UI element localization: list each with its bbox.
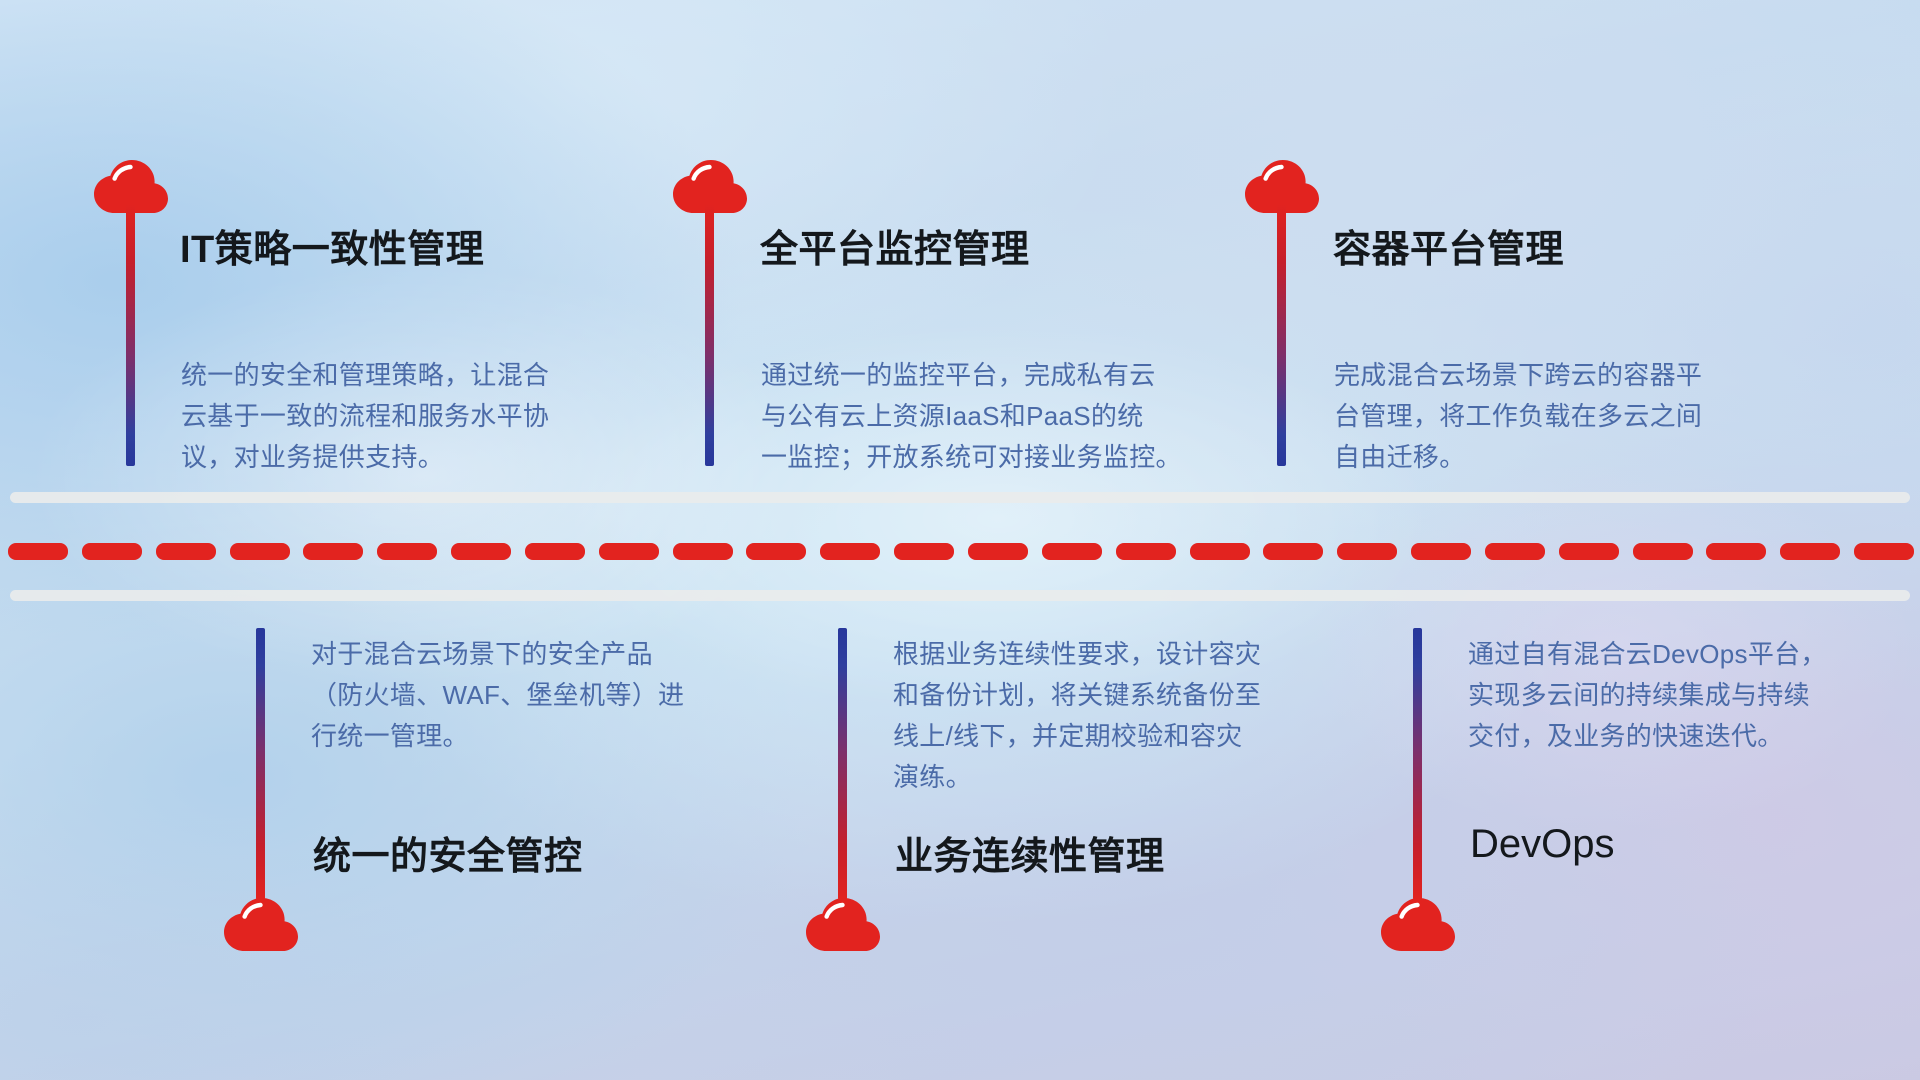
marker-description: 根据业务连续性要求，设计容灾 和备份计划，将关键系统备份至 线上/线下，并定期校… (893, 634, 1333, 798)
road-center-dashes (0, 543, 1920, 560)
infographic-canvas: IT策略一致性管理 统一的安全和管理策略，让混合 云基于一致的流程和服务水平协 … (0, 0, 1920, 1080)
marker-title: 业务连续性管理 (895, 825, 1165, 880)
cloud-icon (224, 898, 298, 952)
marker-stem (1277, 204, 1286, 466)
road-dash (820, 543, 880, 560)
road-dash (525, 543, 585, 560)
cloud-icon (1381, 898, 1455, 952)
road-dash (1116, 543, 1176, 560)
marker-description: 通过自有混合云DevOps平台， 实现多云间的持续集成与持续 交付，及业务的快速… (1468, 634, 1888, 757)
road-dash (377, 543, 437, 560)
road-dash (1190, 543, 1250, 560)
road-dash (82, 543, 142, 560)
marker-description: 完成混合云场景下跨云的容器平 台管理，将工作负载在多云之间 自由迁移。 (1334, 355, 1774, 478)
marker-stem (705, 204, 714, 466)
road-dash (1042, 543, 1102, 560)
road-dash (156, 543, 216, 560)
road-dash (303, 543, 363, 560)
marker-description: 通过统一的监控平台，完成私有云 与公有云上资源IaaS和PaaS的统 一监控；开… (761, 355, 1231, 478)
marker-stem (1413, 628, 1422, 900)
marker-title: 全平台监控管理 (760, 218, 1030, 273)
marker-stem (256, 628, 265, 900)
road-dash (1706, 543, 1766, 560)
road-dash (1780, 543, 1840, 560)
road-dash (1337, 543, 1397, 560)
road-rail-top (10, 492, 1910, 503)
road-dash (1263, 543, 1323, 560)
road-dash (451, 543, 511, 560)
road-rail-bottom (10, 590, 1910, 601)
road-dash (599, 543, 659, 560)
cloud-icon (806, 898, 880, 952)
marker-title: 容器平台管理 (1333, 218, 1564, 273)
road-dash (8, 543, 68, 560)
marker-description: 统一的安全和管理策略，让混合 云基于一致的流程和服务水平协 议，对业务提供支持。 (181, 355, 611, 478)
road-dash (1633, 543, 1693, 560)
marker-title: 统一的安全管控 (313, 825, 583, 880)
road-dash (673, 543, 733, 560)
marker-title: DevOps (1470, 822, 1615, 867)
road-dash (1854, 543, 1914, 560)
road-dash (230, 543, 290, 560)
road-dash (1559, 543, 1619, 560)
marker-stem (838, 628, 847, 900)
marker-title: IT策略一致性管理 (180, 218, 484, 273)
road-dash (968, 543, 1028, 560)
marker-description: 对于混合云场景下的安全产品 （防火墙、WAF、堡垒机等）进 行统一管理。 (311, 634, 741, 757)
road-dash (746, 543, 806, 560)
road-dash (1485, 543, 1545, 560)
road-dash (1411, 543, 1471, 560)
road-dash (894, 543, 954, 560)
marker-stem (126, 204, 135, 466)
